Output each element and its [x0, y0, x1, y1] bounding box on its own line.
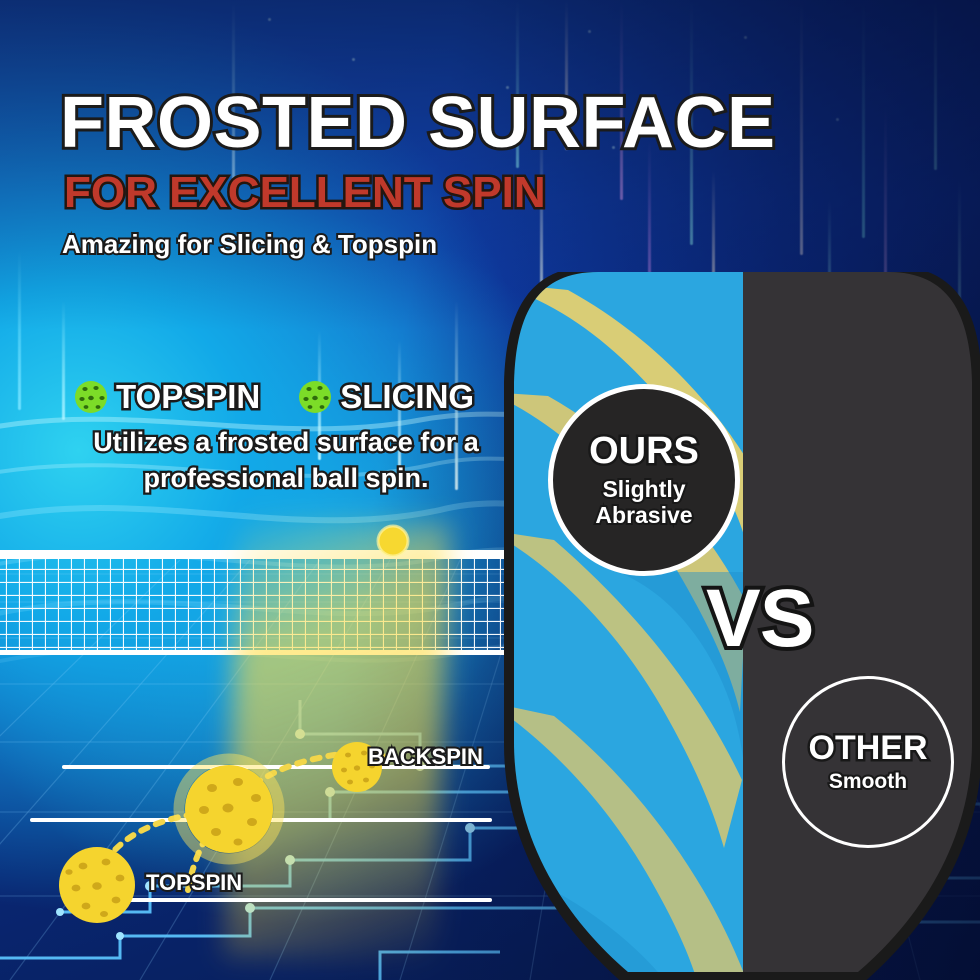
ball-in-flight-icon	[376, 524, 410, 558]
green-pickleball-icon	[298, 380, 332, 414]
page-title: FROSTED SURFACE	[60, 82, 776, 164]
vs-label: VS	[706, 572, 813, 666]
badge-ours-title: OURS	[589, 432, 699, 470]
badge-ours-subtitle: Slightly Abrasive	[553, 477, 735, 529]
page-tagline: Amazing for Slicing & Topspin	[62, 229, 437, 260]
badge-other-title: OTHER	[809, 731, 928, 765]
pickleball-topspin-icon	[56, 844, 138, 926]
product-promo-image: BACKSPIN TOPSPIN VS OURS Sli	[0, 0, 980, 980]
pickleball-center-icon	[170, 750, 288, 868]
badge-other-subtitle: Smooth	[829, 770, 907, 794]
badge-ours: OURS Slightly Abrasive	[548, 384, 740, 576]
spin-tag-slicing: SLICING	[340, 378, 474, 416]
page-subtitle: FOR EXCELLENT SPIN	[64, 168, 546, 218]
spin-tag-row: TOPSPIN SLICING	[74, 378, 474, 416]
badge-other: OTHER Smooth	[782, 676, 954, 848]
spin-tag-topspin: TOPSPIN	[116, 378, 260, 416]
trajectory-label-backspin: BACKSPIN	[368, 744, 483, 770]
trajectory-label-topspin: TOPSPIN	[146, 870, 242, 896]
green-pickleball-icon	[74, 380, 108, 414]
feature-description: Utilizes a frosted surface for a profess…	[86, 425, 486, 497]
